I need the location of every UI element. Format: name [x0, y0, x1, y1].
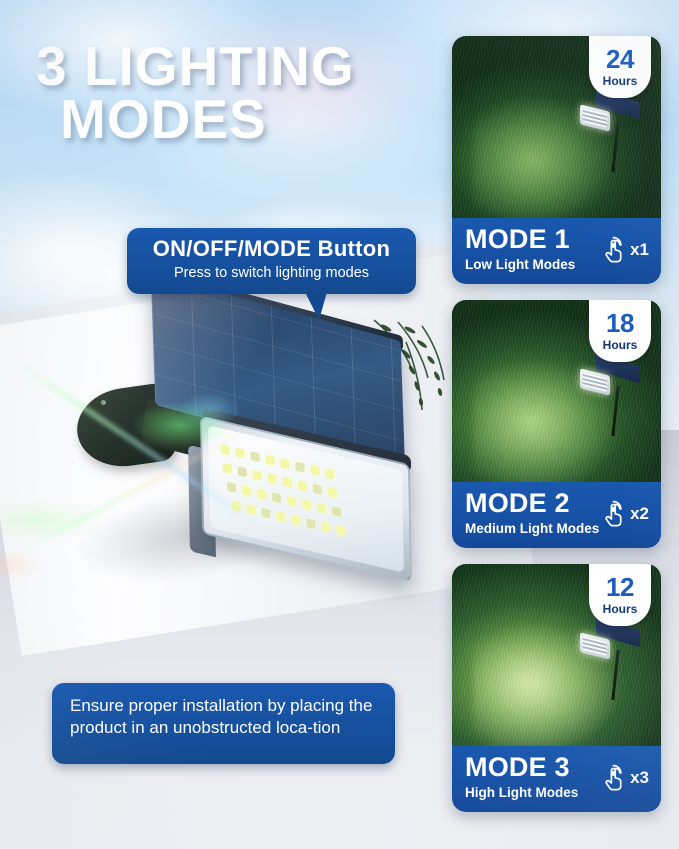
mode-3-press-indicator: x3 — [602, 764, 649, 793]
mode-2-press-indicator: x2 — [602, 500, 649, 529]
title-line-2: MODES — [60, 93, 436, 146]
press-count: x2 — [630, 504, 649, 524]
mode-description: High Light Modes — [465, 785, 578, 800]
mode-3-text-group: MODE 3 High Light Modes — [465, 754, 578, 800]
mode-name: MODE 2 — [465, 490, 599, 517]
callout-mode-button-subtitle: Press to switch lighting modes — [137, 265, 406, 281]
solar-lamp-in-photo — [578, 624, 642, 702]
mount-screw-dot — [101, 400, 106, 405]
callout-mode-button-title: ON/OFF/MODE Button — [137, 237, 406, 260]
mode-description: Low Light Modes — [465, 257, 575, 272]
callout-installation-text: Ensure proper installation by placing th… — [70, 695, 377, 739]
mode-card-2[interactable]: 18 Hours MODE 2 Medium Light Modes x2 — [452, 300, 661, 548]
hours-value: 12 — [606, 574, 634, 600]
mode-1-hours-badge: 24 Hours — [589, 36, 651, 98]
solar-wall-light-product — [55, 300, 445, 600]
lamp-stake — [611, 122, 619, 172]
mode-3-footer: MODE 3 High Light Modes x3 — [452, 746, 661, 812]
hours-value: 24 — [606, 46, 634, 72]
mode-1-press-indicator: x1 — [602, 236, 649, 265]
mode-1-footer: MODE 1 Low Light Modes x1 — [452, 218, 661, 284]
callout-installation-note: Ensure proper installation by placing th… — [52, 683, 395, 764]
poster-title: 3 LIGHTING MODES — [36, 40, 436, 146]
hand-tap-icon — [602, 764, 627, 793]
solar-lamp-in-photo — [578, 96, 642, 174]
hours-value: 18 — [606, 310, 634, 336]
mode-name: MODE 3 — [465, 754, 578, 781]
mode-1-text-group: MODE 1 Low Light Modes — [465, 226, 575, 272]
mode-name: MODE 1 — [465, 226, 575, 253]
mode-3-hours-badge: 12 Hours — [589, 564, 651, 626]
hours-label: Hours — [603, 602, 638, 616]
mode-2-text-group: MODE 2 Medium Light Modes — [465, 490, 599, 536]
hours-label: Hours — [603, 74, 638, 88]
hours-label: Hours — [603, 338, 638, 352]
product-infographic-poster: 3 LIGHTING MODES ON/OFF/MODE Button Pres… — [0, 0, 679, 849]
hand-tap-icon — [602, 500, 627, 529]
hand-tap-icon — [602, 236, 627, 265]
mode-description: Medium Light Modes — [465, 521, 599, 536]
mode-2-hours-badge: 18 Hours — [589, 300, 651, 362]
solar-lamp-in-photo — [578, 360, 642, 438]
press-count: x1 — [630, 240, 649, 260]
callout-mode-button: ON/OFF/MODE Button Press to switch light… — [127, 228, 416, 294]
press-count: x3 — [630, 768, 649, 788]
lamp-stake — [611, 386, 619, 436]
mode-2-footer: MODE 2 Medium Light Modes x2 — [452, 482, 661, 548]
callout-pointer-tail — [305, 292, 327, 320]
mode-card-3[interactable]: 12 Hours MODE 3 High Light Modes x3 — [452, 564, 661, 812]
mode-card-1[interactable]: 24 Hours MODE 1 Low Light Modes x1 — [452, 36, 661, 284]
lamp-stake — [611, 650, 619, 700]
